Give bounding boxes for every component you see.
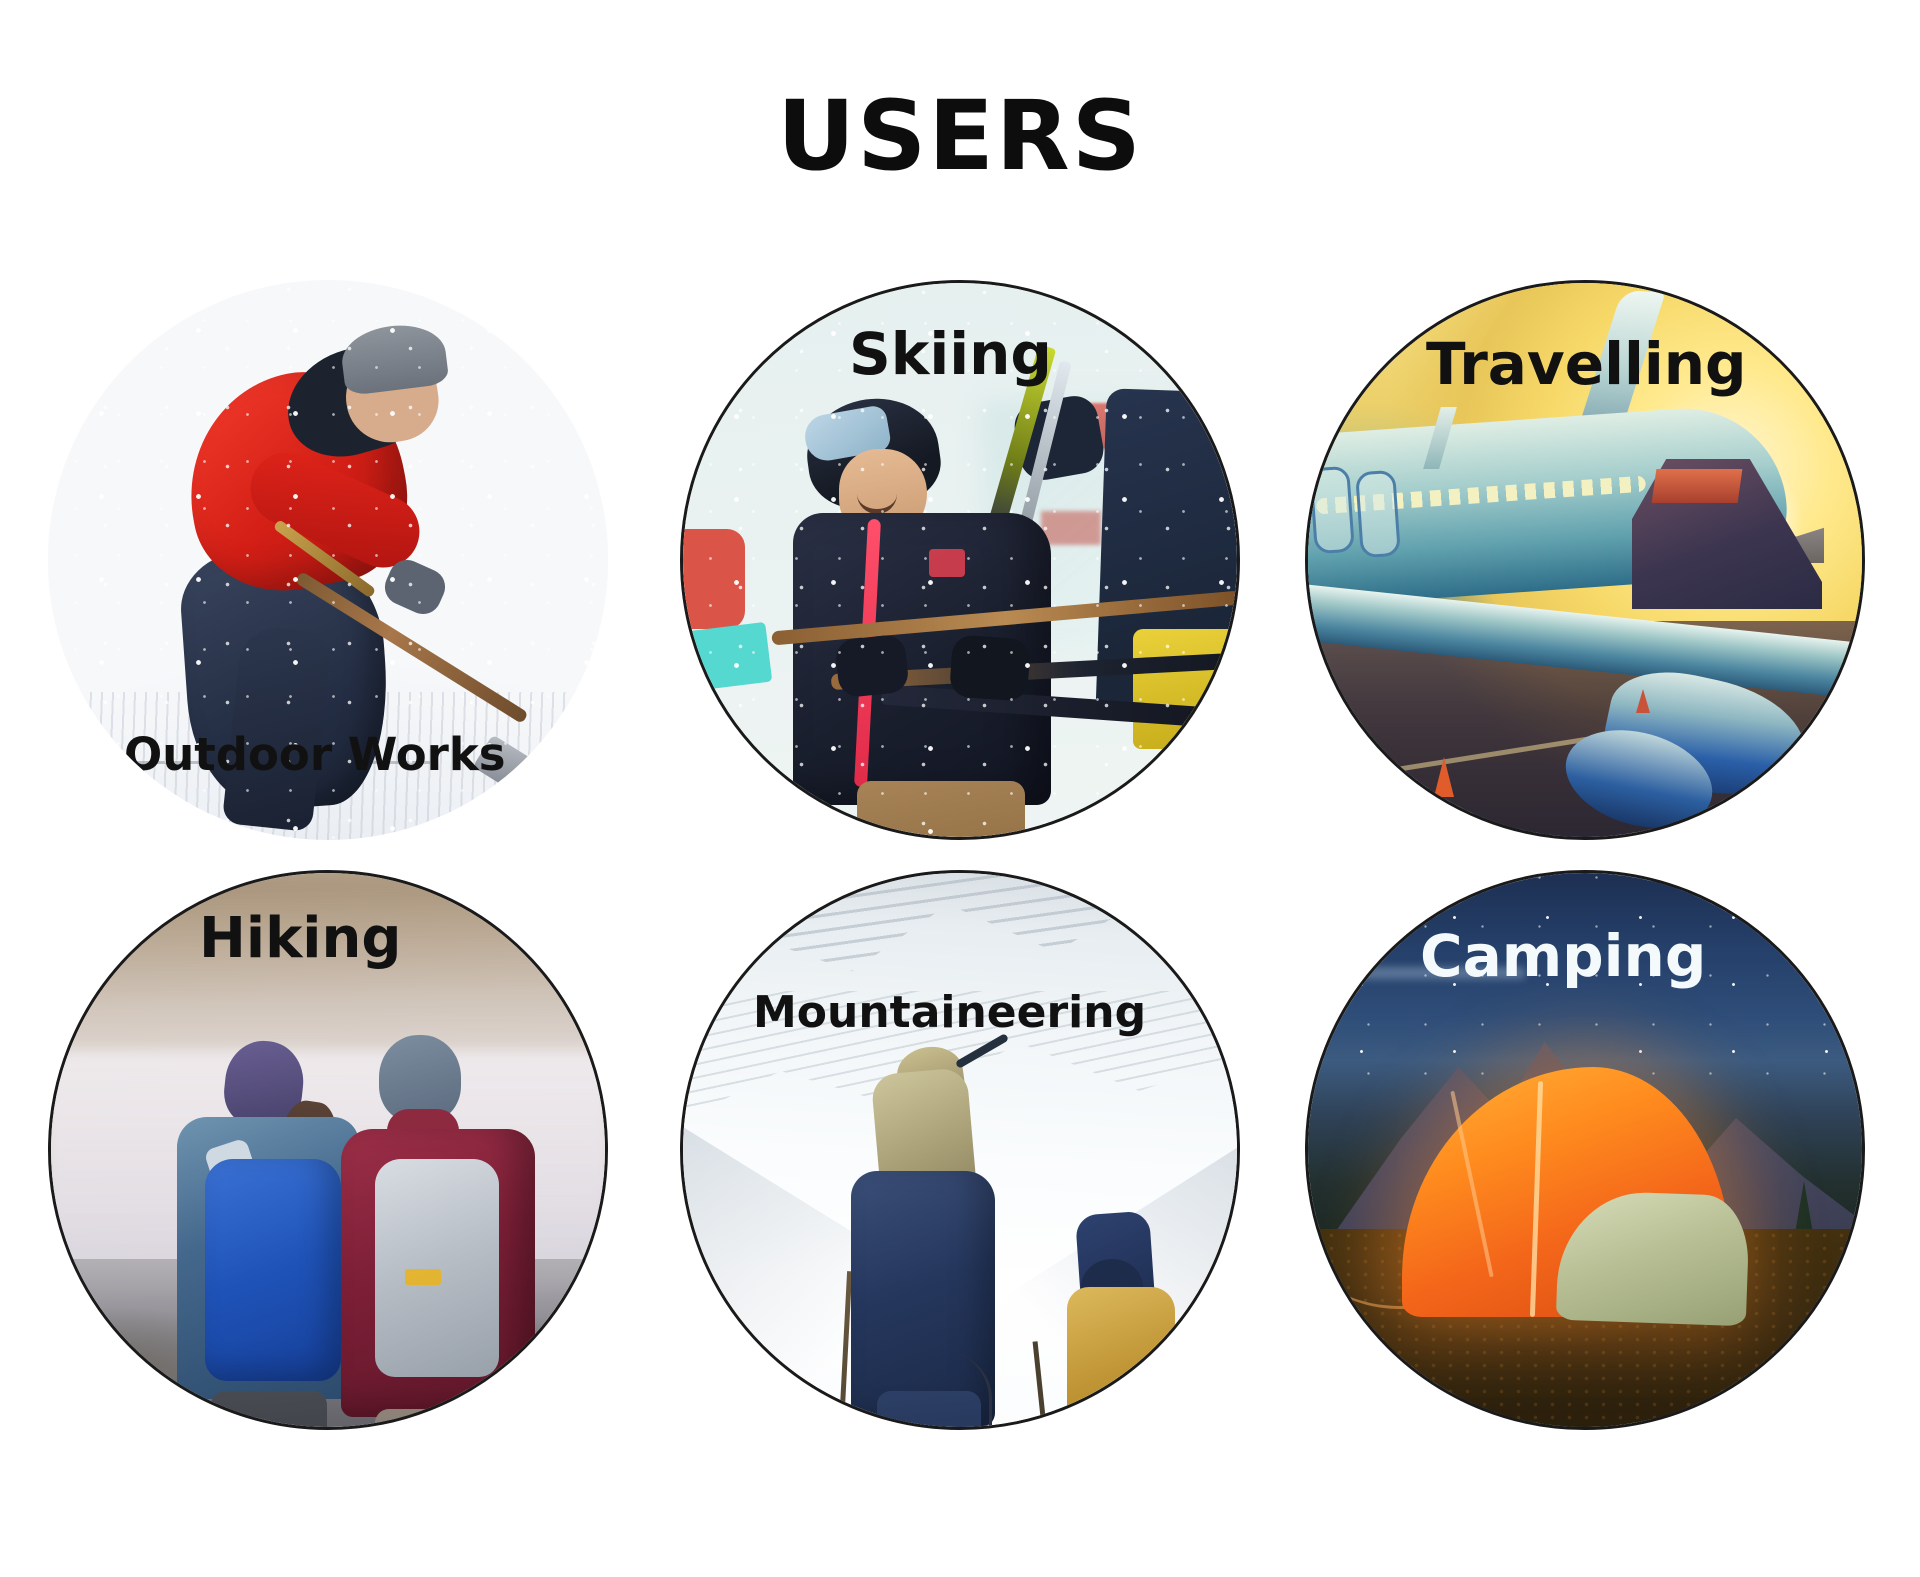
- mountaineering-photo: [681, 871, 1239, 1429]
- badge-label-mountaineering: Mountaineering: [753, 991, 1146, 1035]
- badge-label-travelling: Travelling: [1426, 335, 1747, 393]
- badge-outdoor-works[interactable]: Outdoor Works: [48, 280, 608, 840]
- badge-label-skiing: Skiing: [849, 325, 1052, 383]
- badge-mountaineering[interactable]: Mountaineering: [680, 870, 1240, 1430]
- badge-skiing[interactable]: Skiing: [680, 280, 1240, 840]
- badge-travelling[interactable]: Travelling: [1305, 280, 1865, 840]
- users-badge-grid: Outdoor Works: [0, 258, 1920, 1568]
- badge-hiking[interactable]: Hiking: [48, 870, 608, 1430]
- badge-label-outdoor-works: Outdoor Works: [124, 732, 506, 777]
- badge-label-camping: Camping: [1420, 927, 1706, 985]
- badge-camping[interactable]: Camping: [1305, 870, 1865, 1430]
- page-title: USERS: [0, 88, 1920, 184]
- badge-label-hiking: Hiking: [199, 911, 401, 967]
